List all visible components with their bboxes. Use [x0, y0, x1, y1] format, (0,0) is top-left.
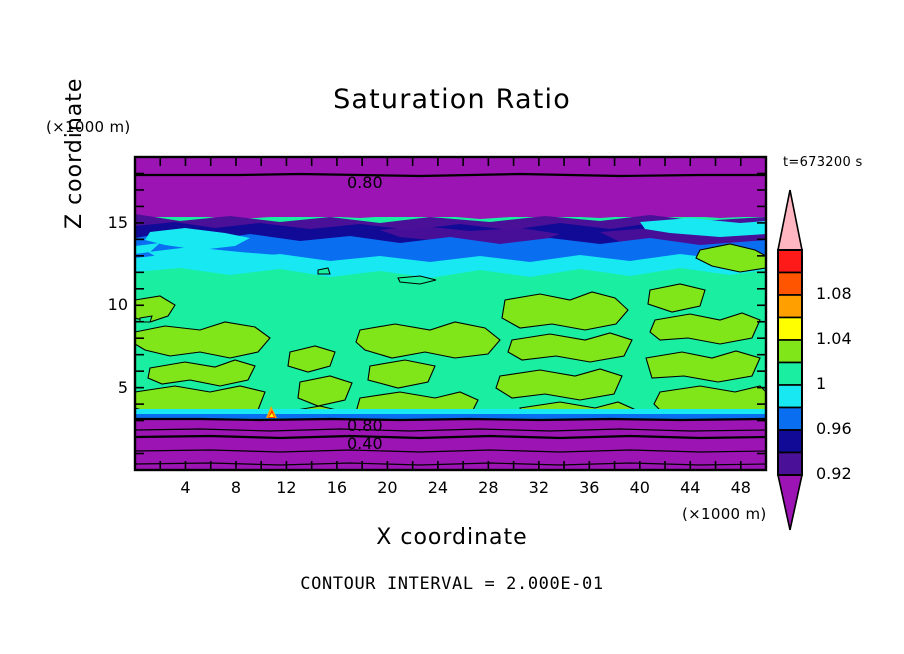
colorbar-tick-label: 0.92: [816, 464, 852, 483]
colorbar-band[interactable]: [778, 250, 802, 273]
colorbar-band[interactable]: [778, 363, 802, 386]
colorbar-tick-label: 0.96: [816, 419, 852, 438]
colorbar-band[interactable]: [778, 340, 802, 363]
contour-label: 0.40: [344, 434, 386, 453]
x-tick-label: 40: [620, 478, 660, 497]
colorbar-band[interactable]: [778, 453, 802, 476]
x-tick-label: 16: [317, 478, 357, 497]
x-tick-label: 32: [519, 478, 559, 497]
colorbar-over-arrow: [778, 190, 802, 250]
contour-field: [135, 157, 766, 470]
x-tick-label: 44: [670, 478, 710, 497]
y-tick-label: 15: [88, 213, 128, 232]
colorbar[interactable]: [778, 190, 802, 530]
figure-canvas: Saturation Ratio (×1000 m) t=673200 s Z …: [0, 0, 904, 654]
x-tick-label: 4: [165, 478, 205, 497]
x-tick-label: 20: [367, 478, 407, 497]
colorbar-tick-label: 1.04: [816, 329, 852, 348]
contour-label: 0.80: [344, 416, 386, 435]
colorbar-band[interactable]: [778, 295, 802, 318]
x-tick-label: 48: [721, 478, 761, 497]
x-tick-label: 8: [216, 478, 256, 497]
colorbar-band[interactable]: [778, 430, 802, 453]
x-tick-label: 28: [468, 478, 508, 497]
colorbar-under-arrow: [778, 475, 802, 530]
contour-plot: [0, 0, 904, 654]
colorbar-band[interactable]: [778, 318, 802, 341]
x-tick-label: 12: [266, 478, 306, 497]
colorbar-band[interactable]: [778, 408, 802, 431]
x-tick-label: 36: [569, 478, 609, 497]
y-tick-label: 10: [88, 295, 128, 314]
y-tick-label: 5: [88, 378, 128, 397]
x-tick-label: 24: [418, 478, 458, 497]
contour-label: 0.80: [344, 173, 386, 192]
colorbar-tick-label: 1.08: [816, 284, 852, 303]
colorbar-tick-label: 1: [816, 374, 826, 393]
colorbar-band[interactable]: [778, 385, 802, 408]
colorbar-band[interactable]: [778, 273, 802, 296]
